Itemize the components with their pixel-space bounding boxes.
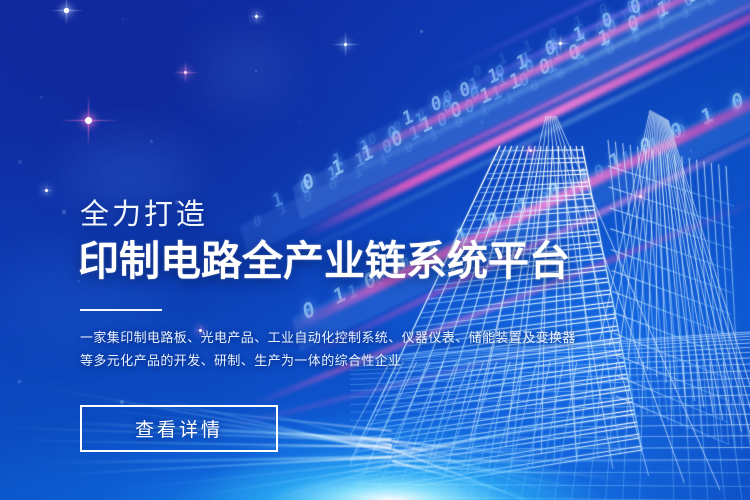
subtitle-line-2: 等多元化产品的开发、研制、生产为一体的综合性企业 xyxy=(80,349,550,372)
hero-content: 全力打造 印制电路全产业链系统平台 一家集印制电路板、光电产品、工业自动化控制系… xyxy=(80,0,600,500)
hero-banner: 0 1 0 0 1 1 0 1 0 1 1 0 0 1 0 1 1 1 0 1 … xyxy=(0,0,750,500)
view-details-button[interactable]: 查看详情 xyxy=(80,405,278,452)
sparkle-star xyxy=(66,10,67,11)
particle-dot xyxy=(24,34,25,35)
particle-dot xyxy=(40,96,43,99)
subtitle-line-1: 一家集印制电路板、光电产品、工业自动化控制系统、仪器仪表、储能装置及变换器 xyxy=(80,326,550,349)
title-divider xyxy=(80,309,162,311)
eyebrow-text: 全力打造 xyxy=(80,198,208,232)
sparkle-star xyxy=(46,190,47,191)
particle-dot xyxy=(600,90,601,91)
particle-dot xyxy=(18,160,22,164)
particle-dot xyxy=(62,210,66,214)
subtitle-block: 一家集印制电路板、光电产品、工业自动化控制系统、仪器仪表、储能装置及变换器 等多… xyxy=(80,326,550,372)
page-title: 印制电路全产业链系统平台 xyxy=(78,236,570,286)
